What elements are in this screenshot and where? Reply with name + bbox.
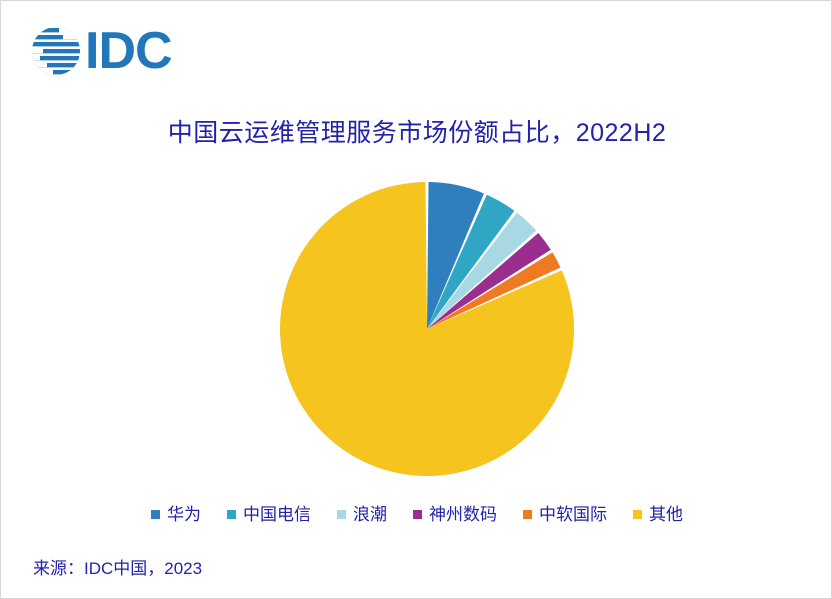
legend-item[interactable]: 中国电信: [227, 506, 311, 523]
legend-label: 其他: [649, 506, 683, 523]
legend-label: 中软国际: [539, 506, 607, 523]
legend-swatch-icon: [337, 510, 346, 519]
legend-label: 神州数码: [429, 506, 497, 523]
idc-wordmark: IDC: [85, 26, 172, 76]
legend-swatch-icon: [227, 510, 236, 519]
legend-item[interactable]: 中软国际: [523, 506, 607, 523]
legend-item[interactable]: 华为: [151, 506, 201, 523]
legend-item[interactable]: 浪潮: [337, 506, 387, 523]
legend-label: 浪潮: [353, 506, 387, 523]
chart-legend: 华为中国电信浪潮神州数码中软国际其他: [1, 506, 832, 523]
legend-item[interactable]: 其他: [633, 506, 683, 523]
source-note: 来源：IDC中国，2023: [33, 554, 202, 579]
legend-label: 华为: [167, 506, 201, 523]
chart-page: IDC 中国云运维管理服务市场份额占比，2022H2 华为中国电信浪潮神州数码中…: [0, 0, 832, 599]
chart-title: 中国云运维管理服务市场份额占比，2022H2: [1, 113, 832, 149]
legend-item[interactable]: 神州数码: [413, 506, 497, 523]
legend-swatch-icon: [151, 510, 160, 519]
pie-chart: [277, 179, 577, 479]
legend-swatch-icon: [523, 510, 532, 519]
legend-label: 中国电信: [243, 506, 311, 523]
idc-globe-icon: [31, 26, 81, 76]
legend-swatch-icon: [413, 510, 422, 519]
legend-swatch-icon: [633, 510, 642, 519]
idc-logo: IDC: [31, 25, 172, 77]
